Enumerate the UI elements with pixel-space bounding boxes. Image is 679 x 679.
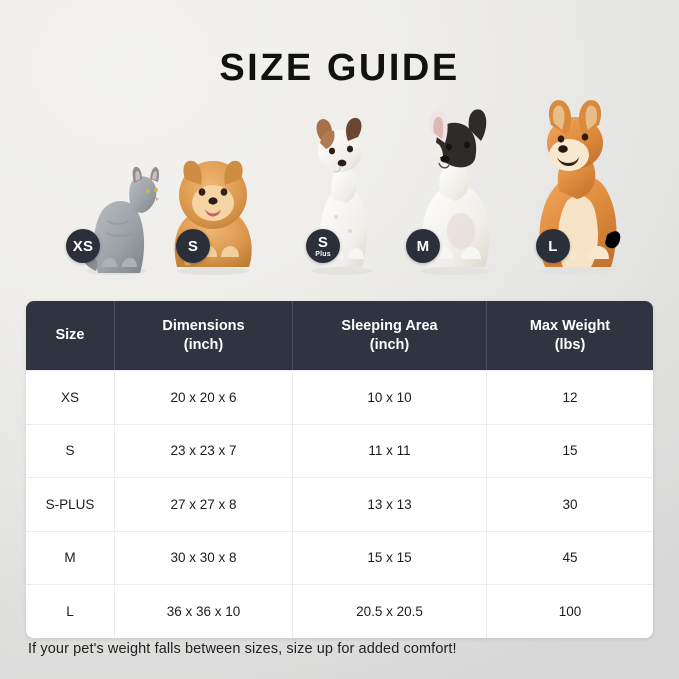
- cell-sleeping-area: 20.5 x 20.5: [293, 585, 487, 638]
- cell-size: L: [26, 585, 115, 638]
- table-row: S-PLUS 27 x 27 x 8 13 x 13 30: [26, 477, 653, 531]
- animal-figure-xs: XS: [72, 155, 168, 275]
- table-row: S 23 x 23 x 7 11 x 11 15: [26, 424, 653, 478]
- badge-s: S: [176, 229, 210, 263]
- animal-figure-s-plus: S Plus: [296, 107, 388, 275]
- cell-size: XS: [26, 371, 115, 424]
- cell-sleeping-area: 10 x 10: [293, 371, 487, 424]
- badge-l: L: [536, 229, 570, 263]
- cell-max-weight: 12: [487, 371, 653, 424]
- badge-xs: XS: [66, 229, 100, 263]
- size-table: Size Dimensions (inch) Sleeping Area (in…: [26, 301, 653, 638]
- table-row: M 30 x 30 x 8 15 x 15 45: [26, 531, 653, 585]
- badge-s-plus-label: S: [318, 235, 328, 250]
- column-header-size: Size: [26, 301, 115, 370]
- cell-dimensions: 30 x 30 x 8: [115, 532, 293, 585]
- cell-dimensions: 23 x 23 x 7: [115, 425, 293, 478]
- column-header-sleeping-area: Sleeping Area (inch): [293, 301, 487, 370]
- table-row: XS 20 x 20 x 6 10 x 10 12: [26, 370, 653, 424]
- cell-sleeping-area: 15 x 15: [293, 532, 487, 585]
- column-header-size-line1: Size: [55, 327, 84, 343]
- size-guide-page: SIZE GUIDE: [0, 0, 679, 679]
- badge-m: M: [406, 229, 440, 263]
- badge-l-label: L: [548, 239, 557, 254]
- badge-s-label: S: [188, 239, 198, 254]
- column-header-dimensions: Dimensions (inch): [115, 301, 293, 370]
- badge-xs-label: XS: [73, 239, 94, 254]
- cell-size: S: [26, 425, 115, 478]
- animal-figure-m: M: [403, 103, 507, 275]
- cell-dimensions: 20 x 20 x 6: [115, 371, 293, 424]
- column-header-dimensions-line1: Dimensions: [162, 317, 244, 336]
- table-header-row: Size Dimensions (inch) Sleeping Area (in…: [26, 301, 653, 370]
- cell-max-weight: 30: [487, 478, 653, 531]
- page-title: SIZE GUIDE: [0, 47, 679, 90]
- cell-dimensions: 27 x 27 x 8: [115, 478, 293, 531]
- cell-dimensions: 36 x 36 x 10: [115, 585, 293, 638]
- badge-s-plus: S Plus: [306, 229, 340, 263]
- column-header-max-weight-line1: Max Weight: [530, 317, 610, 336]
- cell-max-weight: 100: [487, 585, 653, 638]
- column-header-sleeping-area-line2: (inch): [341, 336, 437, 355]
- badge-m-label: M: [417, 239, 430, 254]
- column-header-sleeping-area-line1: Sleeping Area: [341, 317, 437, 336]
- column-header-max-weight-line2: (lbs): [530, 336, 610, 355]
- cell-max-weight: 15: [487, 425, 653, 478]
- animal-size-illustrations: XS: [0, 95, 679, 275]
- cell-size: M: [26, 532, 115, 585]
- animal-figure-s: S: [163, 147, 263, 275]
- cell-sleeping-area: 13 x 13: [293, 478, 487, 531]
- badge-s-plus-sublabel: Plus: [315, 251, 331, 258]
- cell-max-weight: 45: [487, 532, 653, 585]
- cell-size: S-PLUS: [26, 478, 115, 531]
- table-row: L 36 x 36 x 10 20.5 x 20.5 100: [26, 584, 653, 638]
- column-header-dimensions-line2: (inch): [162, 336, 244, 355]
- animal-figure-l: L: [519, 95, 629, 275]
- cell-sleeping-area: 11 x 11: [293, 425, 487, 478]
- column-header-max-weight: Max Weight (lbs): [487, 301, 653, 370]
- pomeranian-dog-icon: [163, 147, 263, 275]
- footer-note: If your pet's weight falls between sizes…: [28, 641, 457, 657]
